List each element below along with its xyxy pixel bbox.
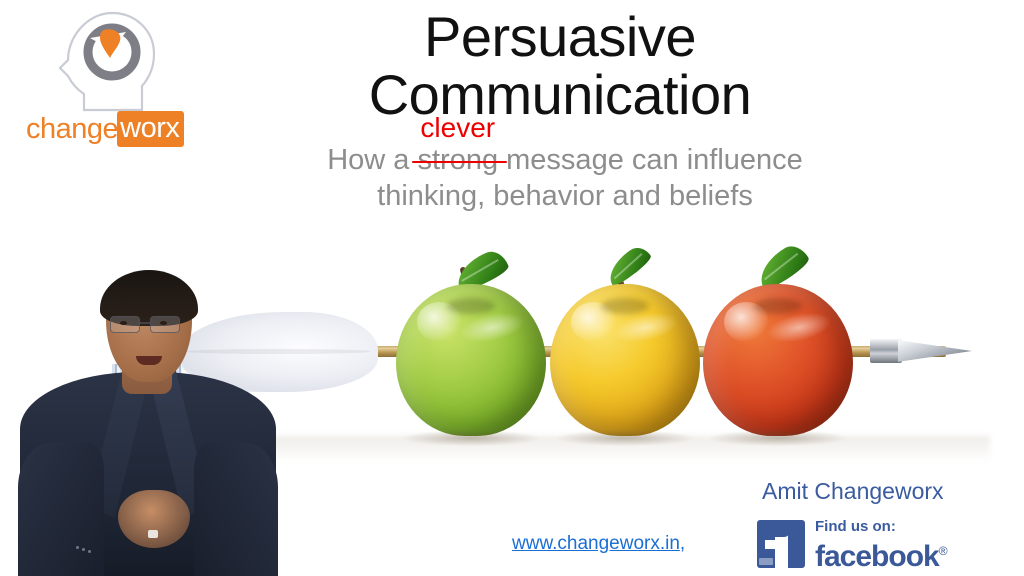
website-link-comma: , <box>680 533 685 554</box>
apple-shadow <box>709 430 847 446</box>
presenter-sleeve-left <box>18 442 104 576</box>
presenter-eye-right <box>160 321 167 325</box>
website-link-text[interactable]: www.changeworx.in <box>512 533 680 554</box>
changeworx-logo[interactable]: change worx <box>16 8 196 146</box>
green-apple <box>396 284 546 436</box>
logo-wordmark: change worx <box>26 112 184 146</box>
logo-change-text: change <box>26 113 118 146</box>
yellow-apple <box>550 284 700 436</box>
apple-leaf <box>602 242 654 287</box>
apple-dimple <box>601 298 649 314</box>
head-power-logo-icon <box>54 10 164 114</box>
list-item <box>396 266 546 438</box>
apple-dimple <box>754 298 802 314</box>
presenter-ring <box>148 530 158 538</box>
facebook-f-icon[interactable] <box>757 520 805 568</box>
registered-mark: ® <box>939 544 947 558</box>
arrow-tip <box>870 332 970 370</box>
strike-line <box>412 161 507 164</box>
apple-shadow <box>402 430 540 446</box>
byline: Amit Changeworx <box>762 478 944 505</box>
presenter-sleeve-right <box>194 442 278 576</box>
arrow-point <box>898 334 972 368</box>
logo-worx-text: worx <box>120 112 179 144</box>
facebook-brand-text: facebook <box>815 540 939 573</box>
arrow-ferrule <box>870 339 902 363</box>
list-item <box>550 266 700 438</box>
apple-shadow <box>556 430 694 446</box>
list-item <box>703 266 853 438</box>
subtitle: How a cleverstrong message can influence… <box>250 142 880 214</box>
facebook-brand-label: facebook® <box>815 535 947 573</box>
presenter-eye-left <box>120 321 127 325</box>
subtitle-rest: message can influence <box>498 144 803 176</box>
subtitle-lead: How a <box>327 144 417 176</box>
page-title: Persuasive Communication <box>240 8 880 124</box>
subtitle-line2: thinking, behavior and beliefs <box>250 178 880 214</box>
red-apple <box>703 284 853 436</box>
presenter-video-overlay <box>14 272 282 576</box>
apple-dimple <box>447 298 495 314</box>
facebook-find-us-label: Find us on: <box>815 518 896 535</box>
slide-canvas: change worx Persuasive Communication How… <box>0 0 1024 576</box>
replacement-word: clever <box>420 114 495 142</box>
presenter-glasses-bridge <box>138 322 150 324</box>
logo-worx-badge: worx <box>117 111 184 147</box>
website-link[interactable]: www.changeworx.in, <box>512 533 685 555</box>
facebook-badge[interactable]: Find us on: facebook® <box>757 518 957 570</box>
strikethrough-group: cleverstrong <box>417 142 498 178</box>
